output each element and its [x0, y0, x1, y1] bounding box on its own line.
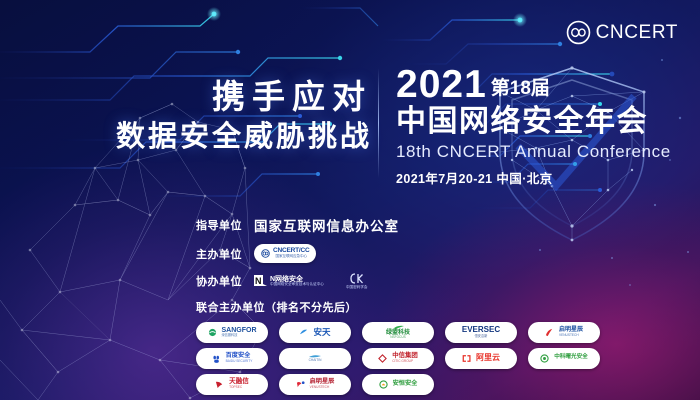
- antiy-logo-icon: [299, 328, 308, 337]
- venustech-alt-logo-icon: [296, 380, 305, 389]
- cncert-wordmark: CNCERT: [596, 23, 678, 42]
- cncert-cc-logo-icon: [261, 249, 270, 258]
- coorganizer-row: 协办单位 N N网络安全 中国网络安全审查技术与认证中心: [196, 272, 666, 290]
- guidance-row: 指导单位 国家互联网信息办公室: [196, 215, 666, 235]
- event-date-location: 2021年7月20-21 中国·北京: [396, 168, 671, 187]
- logo-text: 安恒安全: [393, 381, 418, 388]
- logo-aliyun: 阿里云: [445, 348, 517, 369]
- logo-green-security: 中科曙光安全: [528, 348, 600, 369]
- joint-organizers-label: 联合主办单位（排名不分先后）: [196, 299, 666, 315]
- host-logo-cncert-cc: CNCERT/CC 国家互联网应急中心: [254, 244, 316, 263]
- guidance-value: 国家互联网信息办公室: [254, 215, 399, 235]
- event-title-block: 2021 第18届 中国网络安全年会 18th CNCERT Annual Co…: [396, 66, 671, 187]
- svg-text:N: N: [255, 276, 262, 286]
- logo-eversec: EVERSEC 恒安嘉新: [445, 322, 517, 343]
- aliyun-logo-icon: [462, 354, 471, 363]
- logo-row-2: 百度安全BAIDU SECURITY CHAITIN 中信集团CITIC GRO…: [196, 348, 666, 369]
- cncert-infinity-icon: [566, 20, 591, 45]
- event-year-row: 2021 第18届: [396, 66, 671, 103]
- ck-logo-icon: [349, 272, 365, 285]
- logo-row-1: SANGFOR深信服科技 安天 绿盟科技 NSFOCUS EVERSEC: [196, 322, 666, 343]
- logo-sub: 深信服科技: [222, 334, 238, 337]
- coorg-logo-sub: 中国网络安全审查技术与认证中心: [270, 283, 324, 287]
- host-logo-list: CNCERT/CC 国家互联网应急中心: [254, 244, 316, 263]
- logo-venustech-alt: 启明星辰VENUSTECH: [279, 374, 351, 395]
- host-logo-sub: 国家互联网应急中心: [276, 255, 307, 259]
- venustech-logo-icon: [545, 328, 554, 337]
- conference-banner: CNCERT 携手应对 数据安全威胁挑战 2021 第18届 中国网络安全年会 …: [0, 0, 700, 400]
- logo-chaitin: CHAITIN: [279, 348, 351, 369]
- dbapp-logo-icon: [379, 380, 388, 389]
- logo-venustech: 启明星辰VENUSTECH: [528, 322, 600, 343]
- host-row: 主办单位 CNCERT/CC 国家互联网应急中心: [196, 244, 666, 263]
- n-mark-logo-icon: N: [254, 273, 267, 288]
- citic-logo-icon: [378, 354, 387, 363]
- guidance-label: 指导单位: [196, 217, 242, 233]
- logo-sub: VENUSTECH: [559, 334, 579, 337]
- logo-text: 中科曙光安全: [554, 355, 588, 361]
- logo-nsfocus: 绿盟科技 NSFOCUS: [362, 322, 434, 343]
- coorg-logo-ck: 中国密码学会: [346, 272, 368, 290]
- logo-dbapp: 安恒安全: [362, 374, 434, 395]
- logo-sub: 恒安嘉新: [475, 335, 488, 338]
- event-year: 2021: [396, 66, 487, 103]
- coorganizer-label: 协办单位: [196, 273, 242, 289]
- logo-sub: BAIDU SECURITY: [226, 360, 253, 363]
- logo-topsec: 天融信TOPSEC: [196, 374, 268, 395]
- logo-sangfor: SANGFOR深信服科技: [196, 322, 268, 343]
- logo-text: 阿里云: [476, 354, 500, 362]
- cncert-brand-logo: CNCERT: [566, 20, 678, 45]
- event-edition: 第18届: [491, 73, 550, 103]
- event-name-cn: 中国网络安全年会: [396, 105, 671, 139]
- event-name-en: 18th CNCERT Annual Conference: [396, 142, 671, 162]
- logo-text: 安天: [313, 328, 330, 337]
- topsec-logo-icon: [215, 380, 224, 389]
- coorganizer-logo-list: N N网络安全 中国网络安全审查技术与认证中心 中国密码学会: [254, 272, 367, 290]
- organizers-section: 指导单位 国家互联网信息办公室 主办单位 CNCERT/CC 国家互联网应急中心: [196, 215, 666, 395]
- slogan-line-1: 携手应对: [92, 78, 372, 116]
- coorg-logo-ck-sub: 中国密码学会: [346, 286, 368, 290]
- logo-antiy: 安天: [279, 322, 351, 343]
- logo-baidu-security: 百度安全BAIDU SECURITY: [196, 348, 268, 369]
- logo-sub: TOPSEC: [229, 386, 242, 389]
- joint-organizer-logo-grid: SANGFOR深信服科技 安天 绿盟科技 NSFOCUS EVERSEC: [196, 322, 666, 395]
- logo-sub: NSFOCUS: [390, 336, 406, 339]
- slogan-line-2: 数据安全威胁挑战: [92, 119, 372, 157]
- host-label: 主办单位: [196, 246, 242, 262]
- sangfor-logo-icon: [208, 328, 217, 337]
- logo-citic: 中信集团CITIC GROUP: [362, 348, 434, 369]
- vertical-divider: [378, 68, 379, 178]
- baidu-security-logo-icon: [212, 354, 221, 363]
- logo-sub: VENUSTECH: [310, 386, 330, 389]
- slogan-block: 携手应对 数据安全威胁挑战: [92, 78, 372, 157]
- logo-row-3: 天融信TOPSEC 启明星辰VENUSTECH 安恒安全: [196, 374, 666, 395]
- logo-sub: CITIC GROUP: [392, 360, 413, 363]
- green-security-logo-icon: [540, 354, 549, 363]
- logo-sub: CHAITIN: [309, 359, 322, 362]
- coorg-logo-n-mark: N N网络安全 中国网络安全审查技术与认证中心: [254, 273, 324, 288]
